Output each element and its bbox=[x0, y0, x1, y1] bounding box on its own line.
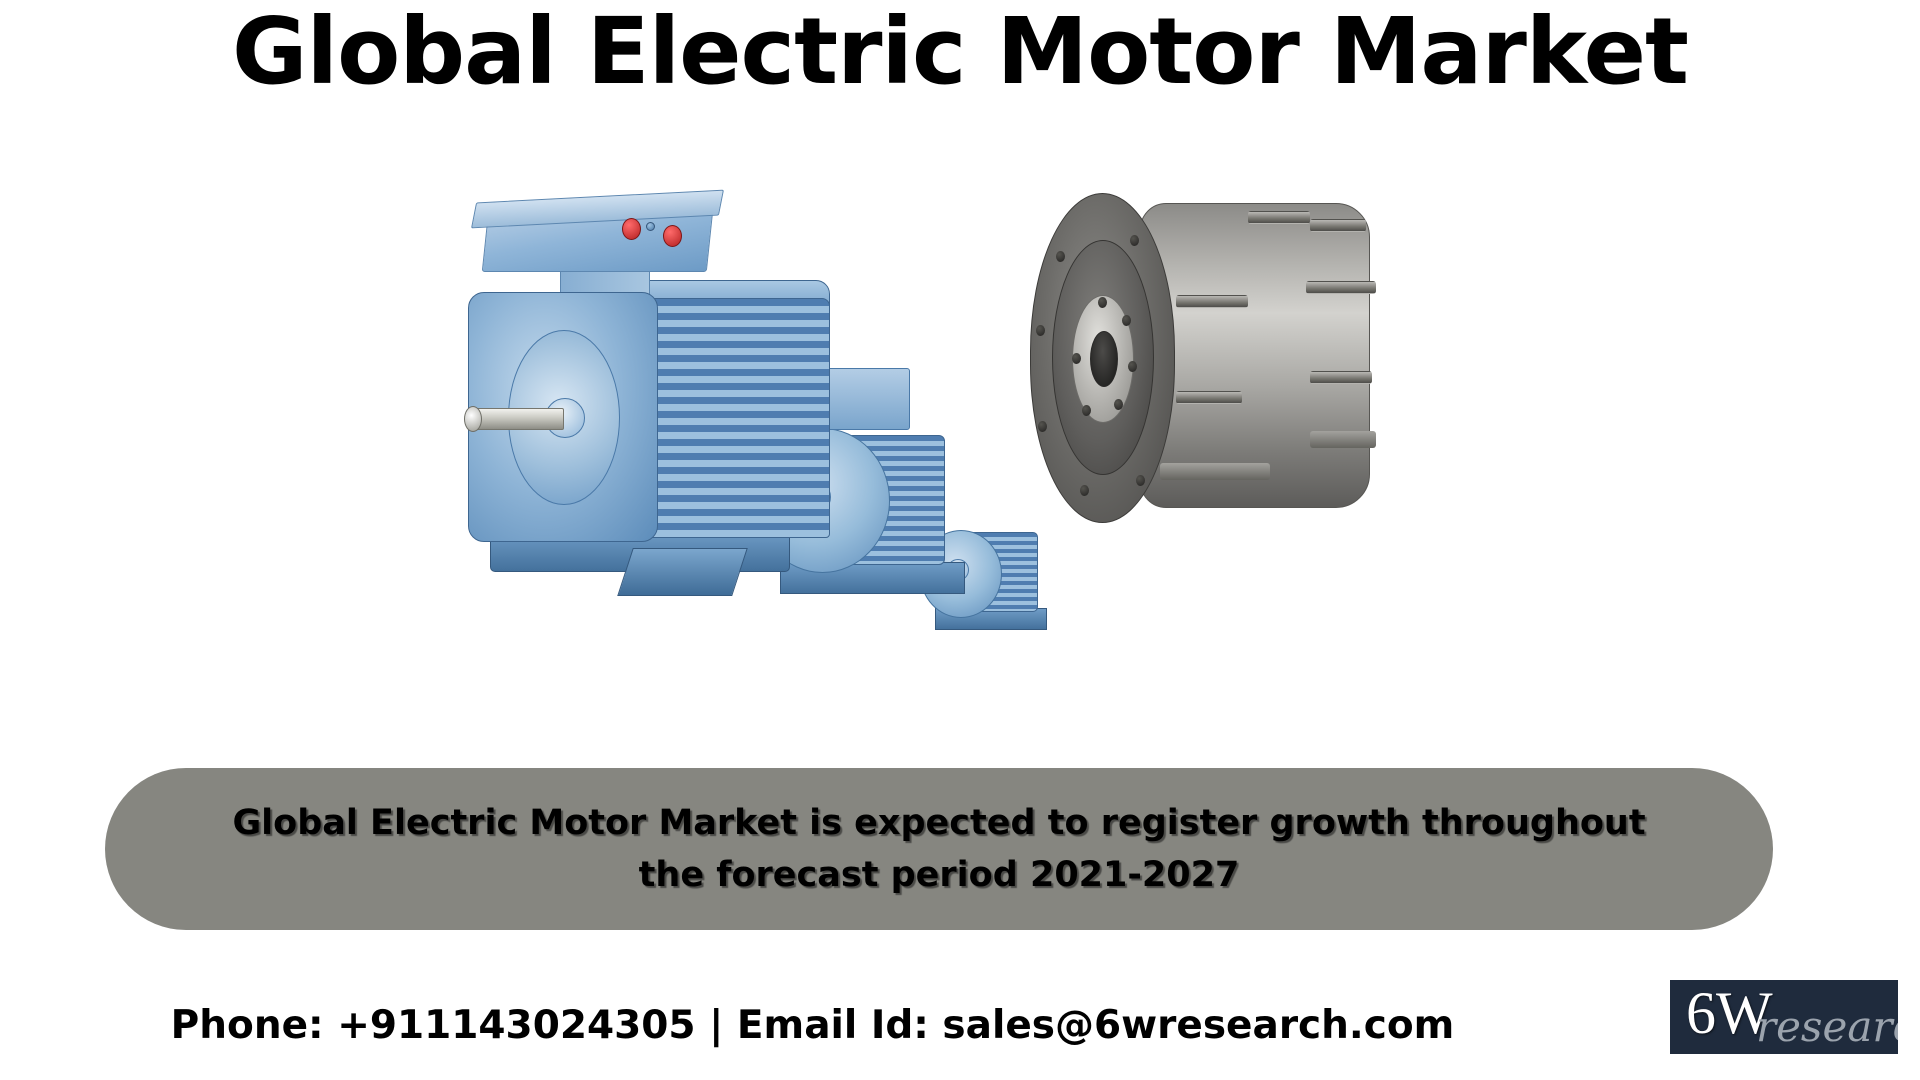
large-motor-shaft-end bbox=[464, 406, 482, 432]
bldc-mount-tab-right bbox=[1310, 431, 1376, 448]
bldc-case-bolt-2 bbox=[1036, 325, 1045, 336]
bldc-stud-low-2 bbox=[1310, 371, 1372, 384]
bldc-flange-bolt-6 bbox=[1072, 353, 1081, 364]
brand-logo-6wresearch[interactable]: 6W research bbox=[1670, 980, 1898, 1054]
page-title: Global Electric Motor Market bbox=[0, 2, 1920, 102]
bldc-case-bolt-4 bbox=[1080, 485, 1089, 496]
bldc-case-bolt-1 bbox=[1056, 251, 1065, 262]
bldc-case-bolt-5 bbox=[1136, 475, 1145, 486]
bldc-shaft-bore bbox=[1090, 331, 1118, 387]
bldc-stud-top-2 bbox=[1310, 219, 1366, 232]
hero-product-image bbox=[430, 165, 1500, 695]
bldc-stud-mid-1 bbox=[1176, 295, 1248, 308]
blue-induction-motor-group bbox=[450, 180, 1070, 680]
bldc-stud-low-1 bbox=[1176, 391, 1242, 404]
bldc-flange-bolt-2 bbox=[1122, 315, 1131, 326]
terminal-indicator-red-left bbox=[622, 218, 641, 240]
footer-contact-line: Phone: +911143024305 | Email Id: sales@6… bbox=[0, 1000, 1625, 1052]
bldc-flange-bolt-1 bbox=[1098, 297, 1107, 308]
bldc-flange-bolt-3 bbox=[1128, 361, 1137, 372]
terminal-indicator-blue bbox=[646, 222, 655, 231]
bldc-case-bolt-3 bbox=[1038, 421, 1047, 432]
logo-secondary-text: research bbox=[1756, 1003, 1898, 1051]
bldc-flange-bolt-5 bbox=[1082, 405, 1091, 416]
metallic-bldc-motor bbox=[1010, 185, 1480, 535]
bldc-stud-top-1 bbox=[1248, 211, 1310, 224]
terminal-indicator-red-right bbox=[663, 225, 682, 247]
bldc-stud-mid-2 bbox=[1306, 281, 1376, 294]
highlight-statement: Global Electric Motor Market is expected… bbox=[199, 797, 1679, 901]
highlight-banner: Global Electric Motor Market is expected… bbox=[105, 768, 1773, 930]
bldc-mount-tab-bottom bbox=[1160, 463, 1270, 480]
bldc-case-bolt-6 bbox=[1130, 235, 1139, 246]
bldc-flange-bolt-4 bbox=[1114, 399, 1123, 410]
large-motor-mount bbox=[617, 548, 748, 596]
large-motor-shaft bbox=[468, 408, 564, 430]
